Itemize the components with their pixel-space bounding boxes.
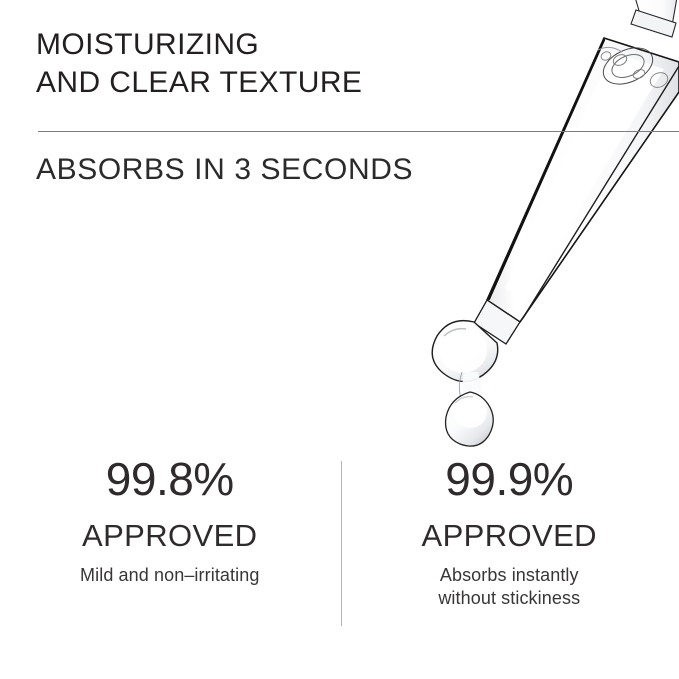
stats-divider	[341, 461, 342, 626]
stat-block-right: 99.9% APPROVED Absorbs instantly without…	[340, 448, 679, 610]
pipette-glass-body	[432, 0, 679, 446]
stat-value-right: 99.9%	[340, 452, 679, 506]
header-divider	[38, 131, 679, 132]
stat-label-right: APPROVED	[340, 516, 679, 556]
stat-caption-right: Absorbs instantly without stickiness	[340, 564, 679, 610]
product-claim-panel: MOISTURIZING AND CLEAR TEXTURE ABSORBS I…	[0, 0, 679, 679]
subheadline: ABSORBS IN 3 SECONDS	[36, 152, 506, 188]
stat-caption-left: Mild and non–irritating	[0, 564, 340, 587]
glass-bubble-texture	[598, 41, 670, 91]
serum-droplet	[446, 392, 494, 446]
page-title: MOISTURIZING AND CLEAR TEXTURE	[36, 26, 466, 102]
stat-label-left: APPROVED	[0, 516, 340, 556]
stat-value-left: 99.8%	[0, 452, 340, 506]
stat-block-left: 99.8% APPROVED Mild and non–irritating	[0, 448, 340, 587]
statistics-row: 99.8% APPROVED Mild and non–irritating 9…	[0, 448, 679, 648]
